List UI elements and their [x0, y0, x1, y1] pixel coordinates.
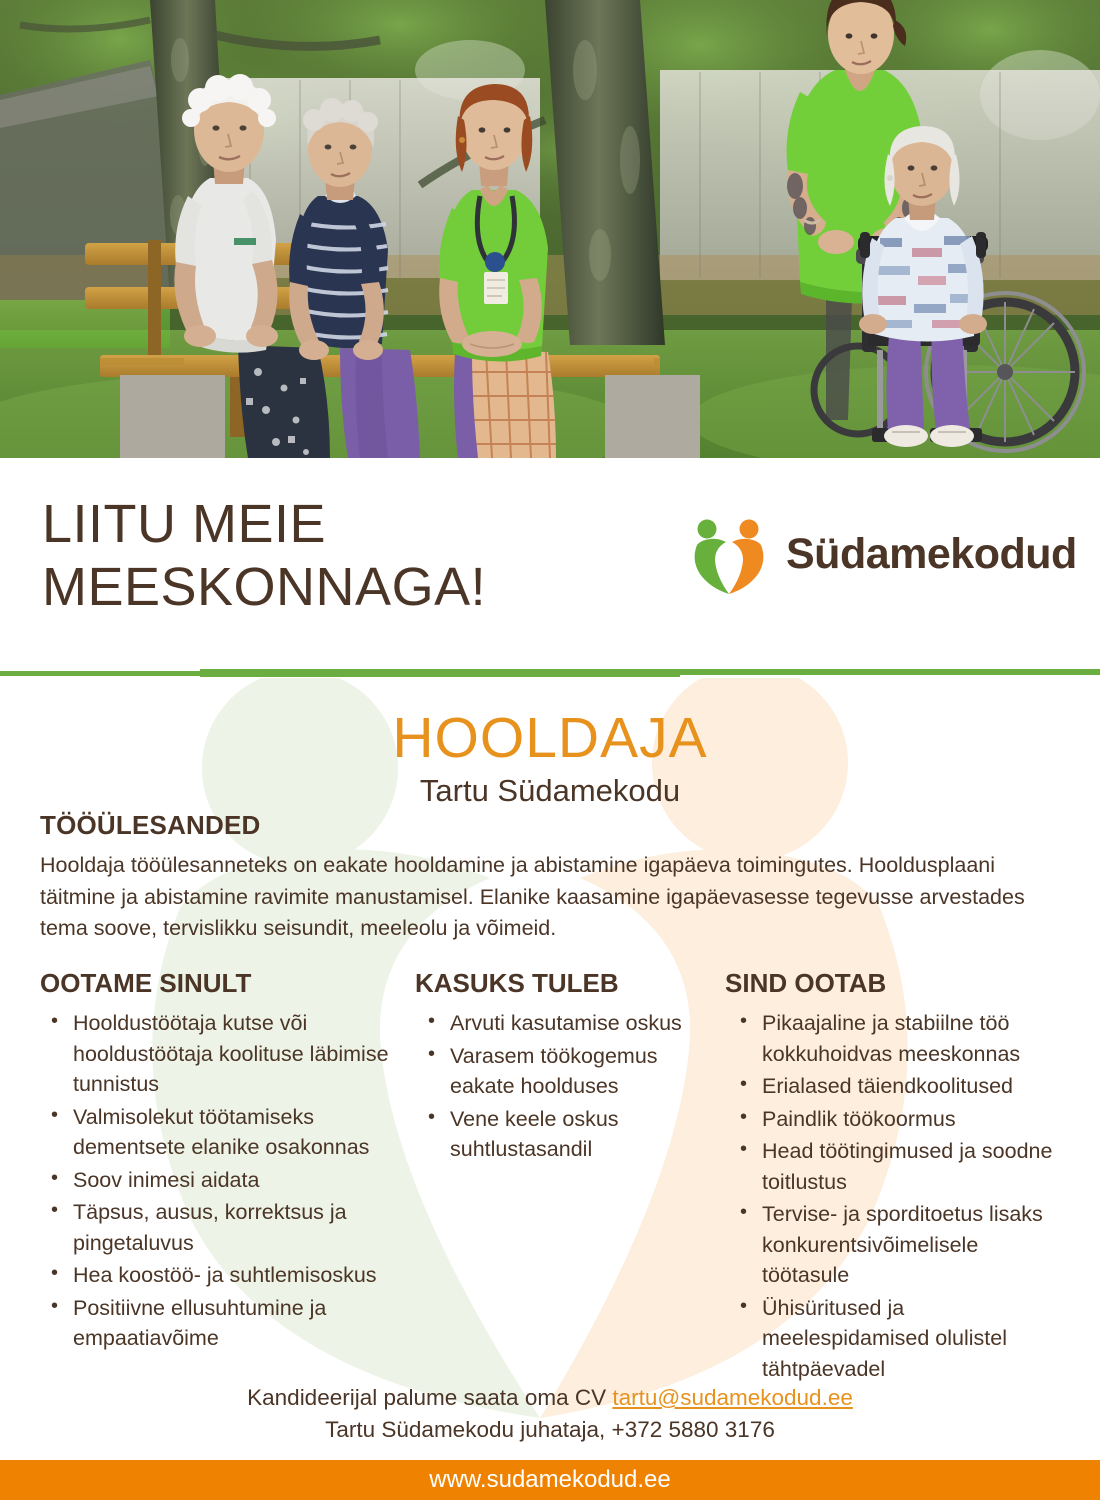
list-item: Täpsus, ausus, korrektsus ja pingetaluvu… [40, 1197, 415, 1258]
divider-center [200, 669, 680, 677]
job-location: Tartu Südamekodu [0, 773, 1100, 809]
job-posting-poster: LIITU MEIE MEESKONNAGA! Südamekodud [0, 0, 1100, 1500]
column-sind-ootab: SIND OOTAB Pikaajaline ja stabiilne töö … [725, 968, 1065, 1386]
column-list: Hooldustöötaja kutse või hooldustöötaja … [40, 1008, 415, 1354]
column-list: Pikaajaline ja stabiilne töö kokkuhoidva… [725, 1008, 1065, 1384]
list-item: Hooldustöötaja kutse või hooldustöötaja … [40, 1008, 415, 1100]
contact-email-link[interactable]: tartu@sudamekodud.ee [612, 1385, 853, 1410]
heart-people-logo-icon [686, 518, 772, 594]
brand-name: Südamekodud [786, 530, 1077, 579]
contact-block: Kandideerijal palume saata oma CV tartu@… [0, 1382, 1100, 1446]
column-list: Arvuti kasutamise oskusVarasem töökogemu… [415, 1008, 715, 1165]
list-item: Varasem töökogemus eakate hoolduses [415, 1041, 715, 1102]
list-item: Erialased täiendkoolitused [725, 1071, 1065, 1102]
content-area: HOOLDAJA Tartu Südamekodu TÖÖÜLESANDED H… [0, 678, 1100, 1422]
list-item: Soov inimesi aidata [40, 1165, 415, 1196]
divider-left [0, 671, 206, 676]
job-title: HOOLDAJA [0, 705, 1100, 771]
tasks-heading: TÖÖÜLESANDED [40, 810, 261, 841]
footer-bar: www.sudamekodud.ee [0, 1460, 1100, 1500]
list-item: Head töötingimused ja soodne toitlustus [725, 1136, 1065, 1197]
column-kasuks-tuleb: KASUKS TULEB Arvuti kasutamise oskusVara… [415, 968, 715, 1167]
hero-photo [0, 0, 1100, 458]
list-item: Vene keele oskus suhtlustasandil [415, 1104, 715, 1165]
list-item: Paindlik töökoormus [725, 1104, 1065, 1135]
green-divider [0, 666, 1100, 678]
page-title: LIITU MEIE MEESKONNAGA! [42, 493, 486, 619]
brand-logo: Südamekodud [686, 518, 1058, 598]
list-item: Valmisolekut töötamiseks dementsete elan… [40, 1102, 415, 1163]
list-item: Pikaajaline ja stabiilne töö kokkuhoidva… [725, 1008, 1065, 1069]
column-heading: OOTAME SINULT [40, 968, 415, 999]
requirements-columns: OOTAME SINULT Hooldustöötaja kutse või h… [0, 968, 1100, 1388]
column-ootame-sinult: OOTAME SINULT Hooldustöötaja kutse või h… [40, 968, 415, 1356]
list-item: Positiivne ellusuhtumine ja empaatiavõim… [40, 1293, 415, 1354]
list-item: Tervise- ja sporditoetus lisaks konkuren… [725, 1199, 1065, 1291]
list-item: Hea koostöö- ja suhtlemisoskus [40, 1260, 415, 1291]
list-item: Arvuti kasutamise oskus [415, 1008, 715, 1039]
website-url[interactable]: www.sudamekodud.ee [0, 1460, 1100, 1500]
list-item: Ühisüritused ja meelespidamised oluliste… [725, 1293, 1065, 1385]
divider-right [674, 669, 1100, 675]
contact-line-manager: Tartu Südamekodu juhataja, +372 5880 317… [0, 1414, 1100, 1446]
contact-cv-prefix: Kandideerijal palume saata oma CV [247, 1385, 612, 1410]
tasks-text: Hooldaja tööülesanneteks on eakate hoold… [40, 850, 1060, 945]
column-heading: KASUKS TULEB [415, 968, 715, 999]
contact-line-cv: Kandideerijal palume saata oma CV tartu@… [0, 1382, 1100, 1414]
column-heading: SIND OOTAB [725, 968, 1065, 999]
